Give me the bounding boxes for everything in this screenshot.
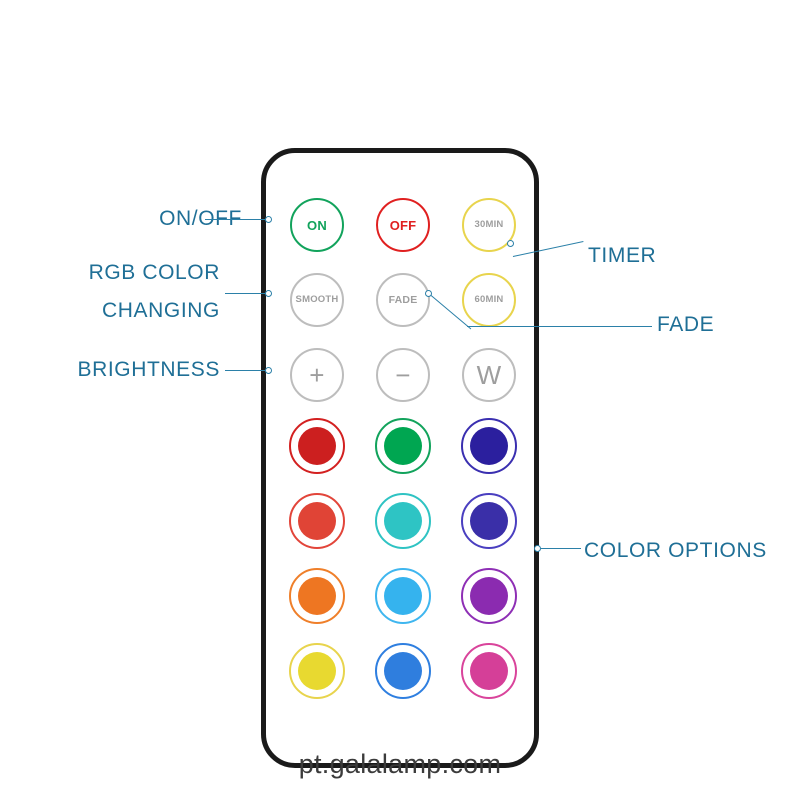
color-dark-blue[interactable] xyxy=(461,418,517,474)
color-magenta[interactable] xyxy=(461,643,517,699)
button-30min-label: 30MIN xyxy=(475,220,504,230)
button-smooth[interactable]: SMOOTH xyxy=(290,273,344,327)
callout-rgb-line2: CHANGING xyxy=(52,297,220,325)
leader-dot-color-options xyxy=(534,545,541,552)
color-indigo-swatch xyxy=(470,502,508,540)
color-dark-blue-swatch xyxy=(470,427,508,465)
leader-line-rgb xyxy=(225,293,267,294)
button-white-label: W xyxy=(477,362,502,388)
color-green[interactable] xyxy=(375,418,431,474)
color-red[interactable] xyxy=(289,418,345,474)
callout-brightness: BRIGHTNESS xyxy=(42,356,220,384)
color-indigo[interactable] xyxy=(461,493,517,549)
color-yellow-swatch xyxy=(298,652,336,690)
leader-dot-rgb xyxy=(265,290,272,297)
leader-line-fade-horizontal xyxy=(467,326,652,327)
color-blue[interactable] xyxy=(375,643,431,699)
button-on-label: ON xyxy=(307,219,327,232)
color-light-blue[interactable] xyxy=(375,568,431,624)
button-fade[interactable]: FADE xyxy=(376,273,430,327)
callout-fade: FADE xyxy=(657,311,714,339)
diagram-canvas: ON OFF 30MIN SMOOTH FADE 60MIN + − W xyxy=(0,0,800,800)
button-off-label: OFF xyxy=(390,219,417,232)
button-off[interactable]: OFF xyxy=(376,198,430,252)
color-purple[interactable] xyxy=(461,568,517,624)
leader-line-color-options xyxy=(541,548,581,549)
button-white[interactable]: W xyxy=(462,348,516,402)
leader-dot-timer xyxy=(507,240,514,247)
color-purple-swatch xyxy=(470,577,508,615)
button-smooth-label: SMOOTH xyxy=(296,295,339,305)
callout-timer: TIMER xyxy=(588,242,656,270)
color-teal-swatch xyxy=(384,502,422,540)
button-fade-label: FADE xyxy=(389,295,418,306)
watermark: pt.galalamp.com xyxy=(0,749,800,780)
color-green-swatch xyxy=(384,427,422,465)
button-brightness-up[interactable]: + xyxy=(290,348,344,402)
button-brightness-down[interactable]: − xyxy=(376,348,430,402)
callout-rgb-line1: RGB COLOR xyxy=(52,259,220,287)
color-blue-swatch xyxy=(384,652,422,690)
button-brightness-down-label: − xyxy=(395,362,410,388)
remote-control-body: ON OFF 30MIN SMOOTH FADE 60MIN + − W xyxy=(261,148,539,768)
color-magenta-swatch xyxy=(470,652,508,690)
button-60min[interactable]: 60MIN xyxy=(462,273,516,327)
button-60min-label: 60MIN xyxy=(475,295,504,305)
color-red-orange[interactable] xyxy=(289,493,345,549)
leader-line-brightness xyxy=(225,370,267,371)
leader-dot-brightness xyxy=(265,367,272,374)
button-on[interactable]: ON xyxy=(290,198,344,252)
leader-line-on-off xyxy=(205,219,267,220)
color-red-swatch xyxy=(298,427,336,465)
color-red-orange-swatch xyxy=(298,502,336,540)
color-yellow[interactable] xyxy=(289,643,345,699)
color-teal[interactable] xyxy=(375,493,431,549)
callout-color-options: COLOR OPTIONS xyxy=(584,537,767,565)
leader-dot-on-off xyxy=(265,216,272,223)
button-brightness-up-label: + xyxy=(309,362,324,388)
color-light-blue-swatch xyxy=(384,577,422,615)
color-orange-swatch xyxy=(298,577,336,615)
color-orange[interactable] xyxy=(289,568,345,624)
